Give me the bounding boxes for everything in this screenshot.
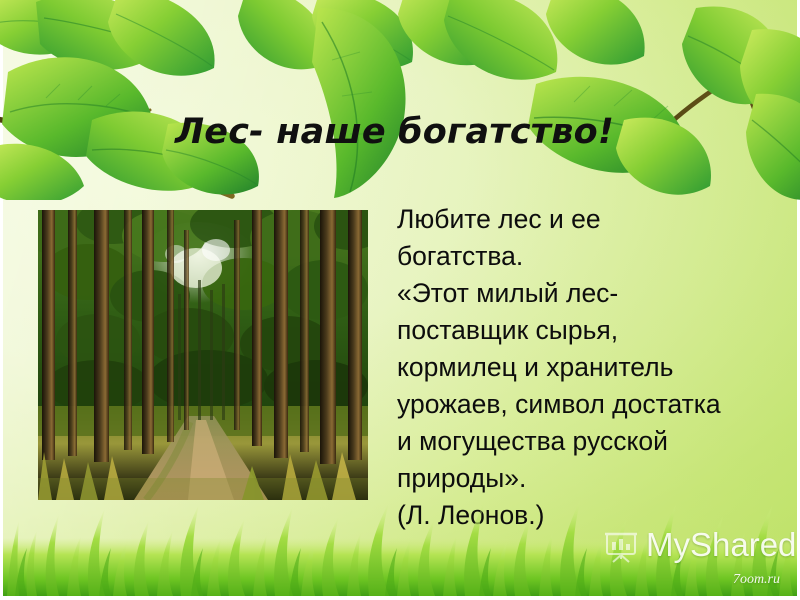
watermark-brand: MyShared (646, 526, 796, 564)
body-line: богатства. (397, 238, 789, 275)
body-line: «Этот милый лес- (397, 275, 789, 312)
green-leaves-border (0, 0, 800, 200)
body-line: поставщик сырья, (397, 312, 789, 349)
body-line: и могущества русской (397, 423, 789, 460)
body-line: Любите лес и ее (397, 201, 789, 238)
watermark-url: 7oom.ru (733, 572, 780, 588)
page-title: Лес- наше богатство! (175, 112, 614, 152)
forest-path-photo (38, 210, 368, 500)
myshared-watermark[interactable]: MyShared 7oom.ru (604, 528, 782, 590)
presentation-board-icon (604, 530, 638, 564)
body-line: кормилец и хранитель (397, 349, 789, 386)
body-line: урожаев, символ достатка (397, 386, 789, 423)
body-text: Любите лес и ее богатства. «Этот милый л… (397, 201, 789, 534)
slide-canvas: Лес- наше богатство! (0, 0, 800, 600)
